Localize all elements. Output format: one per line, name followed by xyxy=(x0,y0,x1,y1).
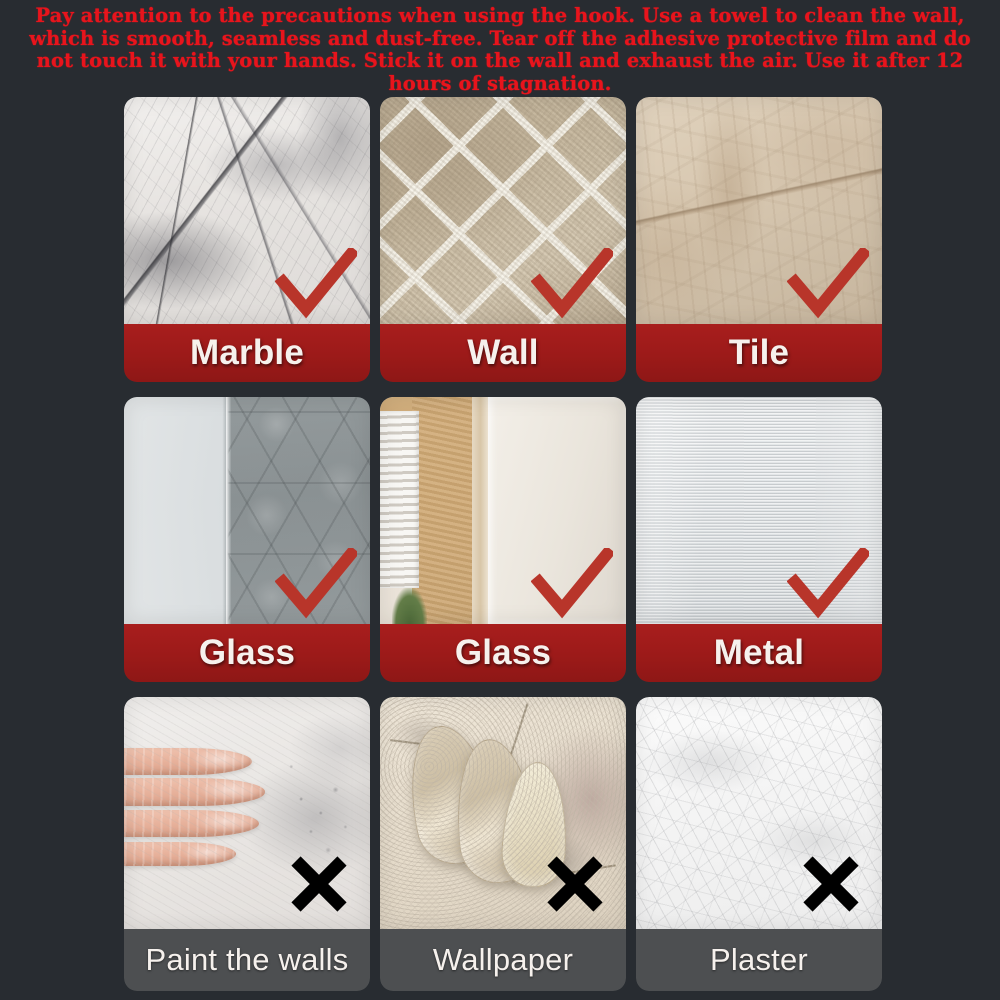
wall-texture xyxy=(380,97,626,324)
surface-label-wallpaper: Wallpaper xyxy=(380,929,626,991)
wallpaper-texture xyxy=(380,697,626,929)
wall-crack xyxy=(509,703,528,756)
surface-photo-glass-panel xyxy=(124,397,370,624)
door-frame xyxy=(472,397,489,624)
surface-card-paint-the-walls[interactable]: Paint the walls xyxy=(124,697,370,991)
painted-wall-texture xyxy=(124,697,370,929)
surface-label-tile: Tile xyxy=(636,324,882,382)
window-blinds xyxy=(380,411,419,588)
surface-photo-plaster xyxy=(636,697,882,929)
warning-text: Pay attention to the precautions when us… xyxy=(22,5,978,95)
surface-card-wall[interactable]: Wall xyxy=(380,97,626,382)
surface-label-plaster: Plaster xyxy=(636,929,882,991)
plant-region xyxy=(392,588,426,624)
metal-texture xyxy=(636,397,882,624)
surface-card-plaster[interactable]: Plaster xyxy=(636,697,882,991)
plaster-texture xyxy=(636,697,882,929)
surface-label-glass-panel: Glass xyxy=(124,624,370,682)
surface-photo-marble xyxy=(124,97,370,324)
surface-label-paint-the-walls: Paint the walls xyxy=(124,929,370,991)
warning-banner: Pay attention to the precautions when us… xyxy=(0,0,1000,96)
glass-room-texture xyxy=(380,397,626,624)
glass-hex-texture xyxy=(124,397,370,624)
wall-crack xyxy=(557,864,616,875)
surface-label-wall: Wall xyxy=(380,324,626,382)
surface-photo-tile xyxy=(636,97,882,324)
surface-card-glass-panel[interactable]: Glass xyxy=(124,397,370,682)
marble-texture xyxy=(124,97,370,324)
surface-compatibility-grid: Marble Wall Tile xyxy=(124,97,882,995)
surface-label-metal: Metal xyxy=(636,624,882,682)
wallpaper-peel xyxy=(396,718,507,872)
surface-photo-glass-door xyxy=(380,397,626,624)
glass-pane-edge xyxy=(226,397,231,624)
surface-label-glass-door: Glass xyxy=(380,624,626,682)
finger xyxy=(124,748,252,775)
wall-crack xyxy=(390,740,454,750)
glass-pane xyxy=(488,397,626,624)
hand-fingers xyxy=(124,748,272,892)
surface-photo-metal xyxy=(636,397,882,624)
surface-photo-paint-the-walls xyxy=(124,697,370,929)
finger xyxy=(124,842,236,866)
wallpaper-peel xyxy=(449,735,542,886)
surface-card-glass-door[interactable]: Glass xyxy=(380,397,626,682)
surface-card-marble[interactable]: Marble xyxy=(124,97,370,382)
surface-photo-wallpaper xyxy=(380,697,626,929)
finger xyxy=(124,810,259,837)
surface-card-wallpaper[interactable]: Wallpaper xyxy=(380,697,626,991)
surface-label-marble: Marble xyxy=(124,324,370,382)
surface-card-metal[interactable]: Metal xyxy=(636,397,882,682)
wallpaper-peel xyxy=(500,760,570,888)
surface-photo-wall xyxy=(380,97,626,324)
finger xyxy=(124,778,265,805)
tile-texture xyxy=(636,97,882,324)
surface-card-tile[interactable]: Tile xyxy=(636,97,882,382)
